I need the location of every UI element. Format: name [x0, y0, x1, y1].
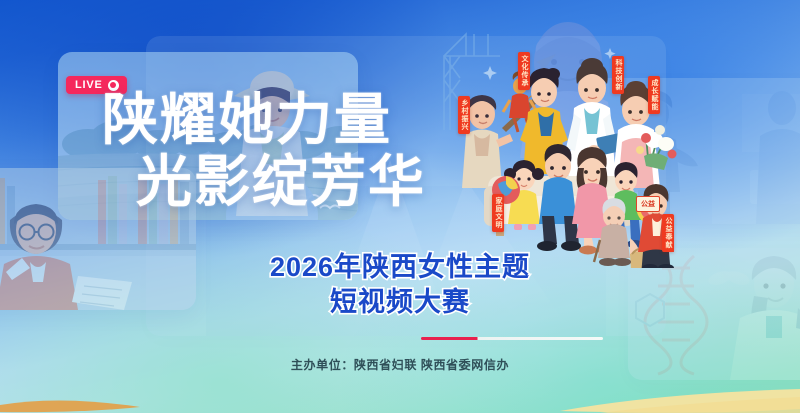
library-reader-card	[0, 168, 196, 310]
poster-subtitle: 2026年陕西女性主题 短视频大赛	[240, 250, 560, 320]
live-badge: LIVE	[66, 76, 127, 94]
library-reader-art	[0, 168, 196, 310]
theme-label-culture: 文化传承	[518, 52, 530, 90]
charity-sign-badge: 公益	[636, 196, 660, 212]
bottom-wave-decoration	[0, 353, 800, 413]
theme-label-family: 家庭文明	[492, 194, 504, 232]
theme-label-growth: 成长赋能	[648, 76, 660, 114]
promo-poster: LIVE	[0, 0, 800, 413]
record-dot-icon	[108, 80, 119, 91]
section-divider	[421, 337, 603, 340]
women-roles-art	[440, 18, 700, 268]
subtitle-line-2: 短视频大赛	[240, 285, 560, 320]
theme-label-charity: 公益奉献	[662, 214, 674, 252]
women-roles-illustration: 乡村振兴 文化传承 科技创新 成长赋能 家庭文明 公益奉献 公益	[440, 18, 700, 268]
live-badge-label: LIVE	[75, 79, 103, 91]
theme-label-tech: 科技创新	[612, 56, 624, 94]
subtitle-line-1: 2026年陕西女性主题	[240, 250, 560, 285]
theme-label-rural: 乡村振兴	[458, 96, 470, 134]
